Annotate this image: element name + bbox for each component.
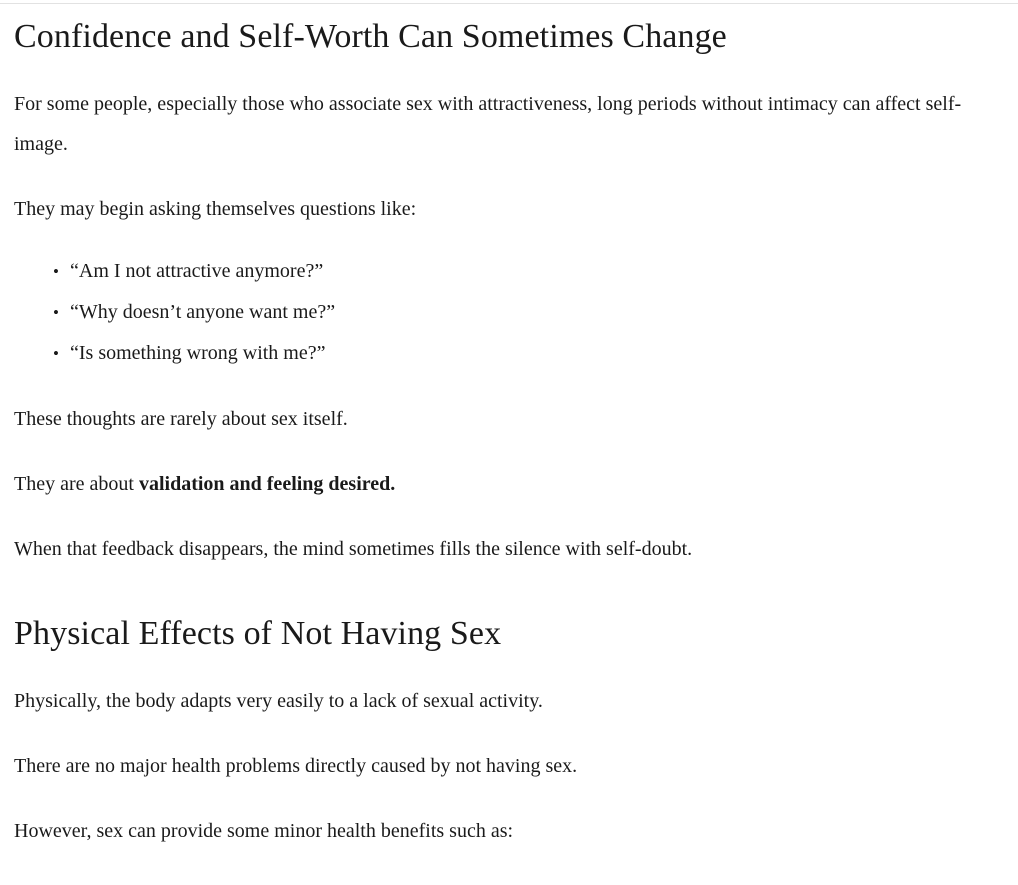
paragraph-self-doubt: When that feedback disappears, the mind … xyxy=(14,529,965,569)
section-heading-confidence: Confidence and Self-Worth Can Sometimes … xyxy=(14,16,980,58)
paragraph-thoughts: These thoughts are rarely about sex itse… xyxy=(14,399,965,439)
article-content: Confidence and Self-Worth Can Sometimes … xyxy=(14,0,980,851)
paragraph-no-major-problems: There are no major health problems direc… xyxy=(14,746,965,786)
list-item: “Is something wrong with me?” xyxy=(70,333,980,374)
paragraph-self-image: For some people, especially those who as… xyxy=(14,84,965,164)
list-item: “Why doesn’t anyone want me?” xyxy=(70,292,980,333)
paragraph-questions-intro: They may begin asking themselves questio… xyxy=(14,189,965,229)
paragraph-body-adapts: Physically, the body adapts very easily … xyxy=(14,681,965,721)
list-item: “Am I not attractive anymore?” xyxy=(70,251,980,292)
paragraph-validation: They are about validation and feeling de… xyxy=(14,464,965,504)
section-heading-physical-effects: Physical Effects of Not Having Sex xyxy=(14,613,980,655)
paragraph-validation-lead: They are about xyxy=(14,473,139,495)
paragraph-validation-bold: validation and feeling desired. xyxy=(139,473,395,495)
paragraph-minor-benefits: However, sex can provide some minor heal… xyxy=(14,811,965,851)
question-list: “Am I not attractive anymore?” “Why does… xyxy=(14,251,980,374)
article-page: Confidence and Self-Worth Can Sometimes … xyxy=(0,0,1018,885)
